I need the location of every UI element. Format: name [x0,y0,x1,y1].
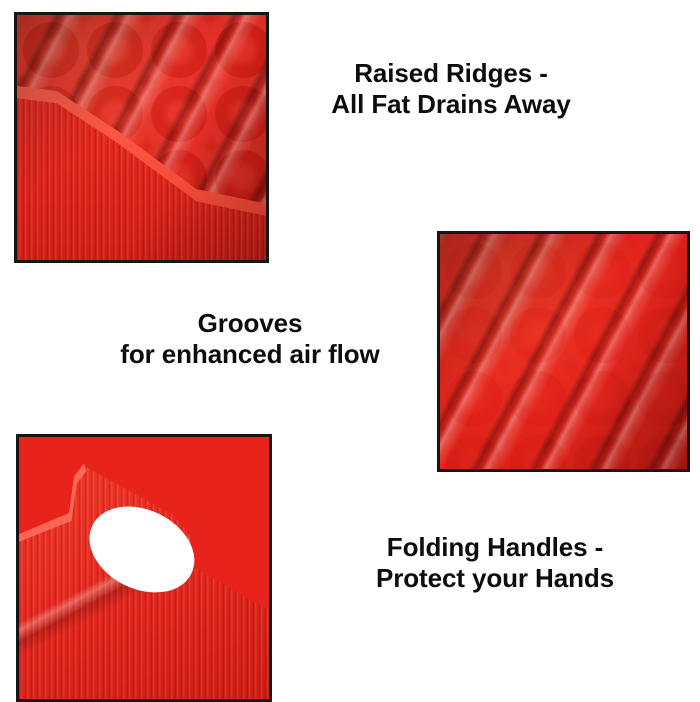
photo-panel-folding-handle [16,434,272,702]
photo-panel-raised-ridges [14,12,269,263]
product-photo-grooves [440,234,687,469]
photo-panel-grooves [437,231,690,472]
caption-folding-handles: Folding Handles - Protect your Hands [326,532,664,593]
product-photo-raised-ridges [17,15,266,260]
photo-shading [17,15,266,260]
product-photo-folding-handle [19,437,269,699]
product-feature-infographic: Raised Ridges - All Fat Drains Away Groo… [0,0,700,700]
caption-raised-ridges: Raised Ridges - All Fat Drains Away [286,58,616,119]
photo-shading [440,234,687,469]
caption-grooves: Grooves for enhanced air flow [83,308,417,369]
